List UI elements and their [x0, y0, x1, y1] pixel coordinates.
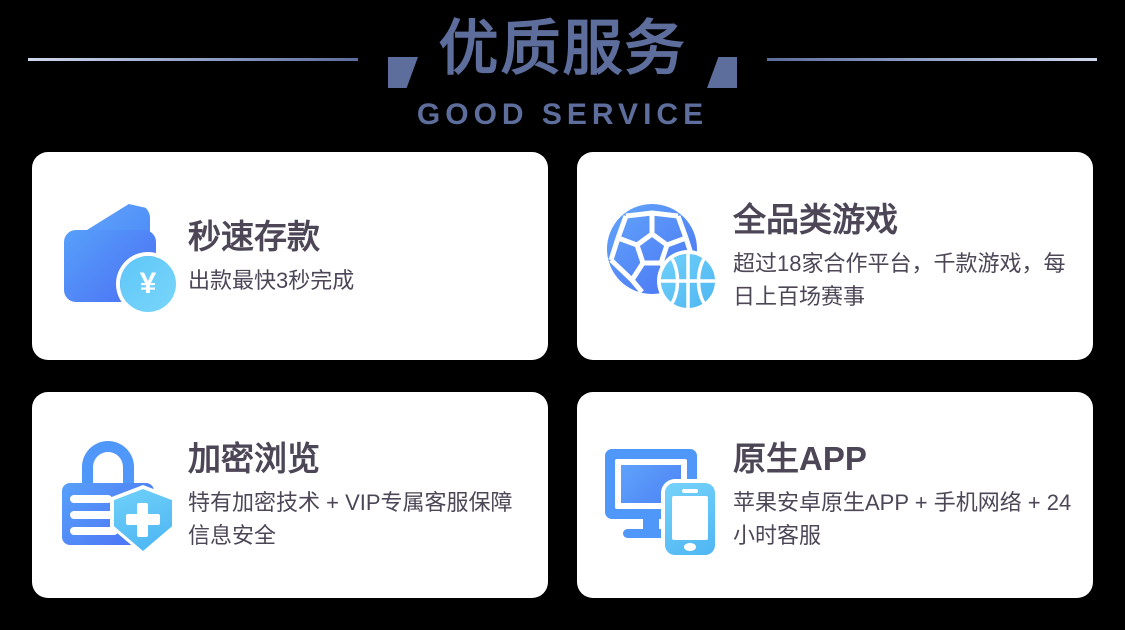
- card-text-block: 原生APP 苹果安卓原生APP + 手机网络 + 24小时客服: [733, 438, 1075, 552]
- card-text-block: 加密浏览 特有加密技术 + VIP专属客服保障信息安全: [188, 438, 530, 552]
- page-title: 优质服务: [0, 12, 1125, 86]
- lock-shield-icon: [58, 437, 174, 553]
- wallet-yen-icon: ¥: [58, 198, 174, 314]
- feature-card-games[interactable]: 全品类游戏 超过18家合作平台，千款游戏，每日上百场赛事: [577, 152, 1093, 360]
- lock-stripe-shape: [70, 495, 112, 503]
- basketball-shape: [661, 254, 715, 308]
- phone-screen-shape: [672, 496, 708, 540]
- card-title: 加密浏览: [188, 438, 530, 480]
- monitor-phone-icon: [603, 437, 719, 553]
- feature-card-native-app[interactable]: 原生APP 苹果安卓原生APP + 手机网络 + 24小时客服: [577, 392, 1093, 598]
- plus-icon: [137, 503, 148, 537]
- card-description: 苹果安卓原生APP + 手机网络 + 24小时客服: [733, 486, 1075, 552]
- feature-card-deposit[interactable]: ¥ 秒速存款 出款最快3秒完成: [32, 152, 548, 360]
- card-title: 原生APP: [733, 438, 1075, 480]
- promo-banner: 优质服务 GOOD SERVICE ¥ 秒速存款 出款最快3秒完成: [0, 0, 1125, 630]
- card-description: 超过18家合作平台，千款游戏，每日上百场赛事: [733, 247, 1075, 313]
- page-subtitle: GOOD SERVICE: [0, 98, 1125, 132]
- card-text-block: 秒速存款 出款最快3秒完成: [188, 216, 530, 297]
- card-description: 特有加密技术 + VIP专属客服保障信息安全: [188, 486, 530, 552]
- smartphone-shape: [665, 483, 715, 555]
- card-description: 出款最快3秒完成: [188, 264, 530, 297]
- lock-stripe-shape: [70, 527, 118, 535]
- card-title: 全品类游戏: [733, 199, 1075, 241]
- card-title: 秒速存款: [188, 216, 530, 258]
- header: 优质服务 GOOD SERVICE: [0, 0, 1125, 140]
- yen-badge-icon: ¥: [120, 256, 176, 312]
- feature-card-grid: ¥ 秒速存款 出款最快3秒完成: [32, 152, 1093, 598]
- card-text-block: 全品类游戏 超过18家合作平台，千款游戏，每日上百场赛事: [733, 199, 1075, 313]
- soccer-basketball-icon: [603, 198, 719, 314]
- feature-card-encryption[interactable]: 加密浏览 特有加密技术 + VIP专属客服保障信息安全: [32, 392, 548, 598]
- phone-home-button-shape: [684, 543, 696, 551]
- basketball-lines-svg: [661, 254, 715, 308]
- phone-speaker-shape: [682, 489, 698, 493]
